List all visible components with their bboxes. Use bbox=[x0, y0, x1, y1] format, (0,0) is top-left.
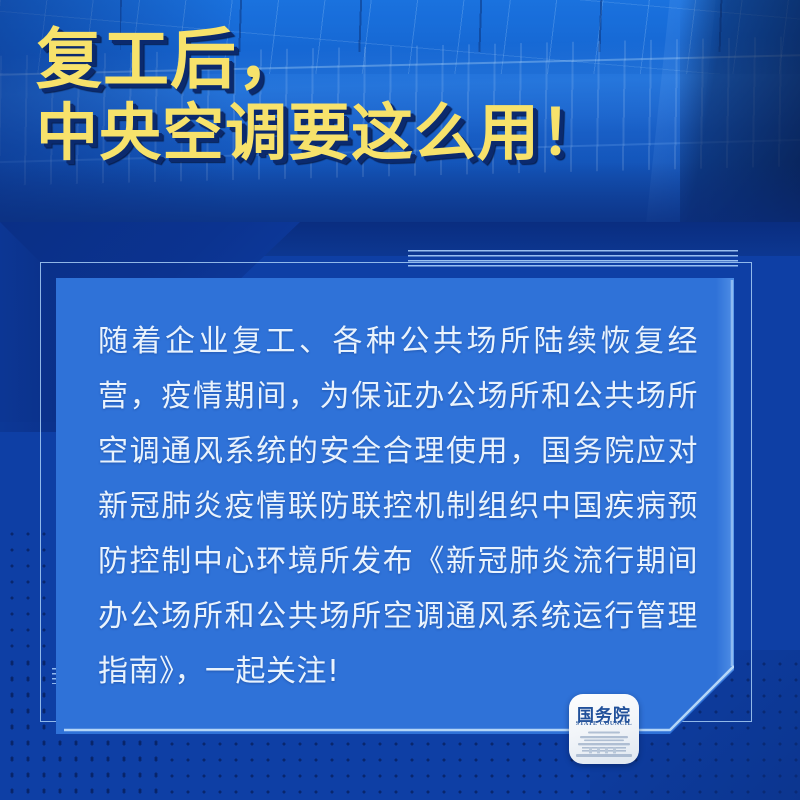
photo-bottom-fade bbox=[0, 162, 800, 222]
badge-name-en: STATE COUNCIL bbox=[569, 721, 639, 727]
title-line-1: 复工后， bbox=[36, 26, 776, 93]
panel-right-glow bbox=[716, 278, 734, 734]
title-line-2: 中央空调要这么用！ bbox=[36, 101, 776, 164]
state-council-badge[interactable]: 国务院 STATE COUNCIL bbox=[569, 694, 639, 764]
poster-title: 复工后， 中央空调要这么用！ bbox=[36, 26, 776, 165]
poster-body-section: 随着企业复工、各种公共场所陆续恢复经营，疫情期间，为保证办公场所和公共场所空调通… bbox=[0, 222, 800, 800]
gate-building-icon bbox=[576, 730, 632, 760]
poster-canvas: 复工后， 中央空调要这么用！ 随着企业复工、各种公共场所陆续恢复经营，疫情期间，… bbox=[0, 0, 800, 800]
body-paragraph: 随着企业复工、各种公共场所陆续恢复经营，疫情期间，为保证办公场所和公共场所空调通… bbox=[98, 314, 698, 699]
